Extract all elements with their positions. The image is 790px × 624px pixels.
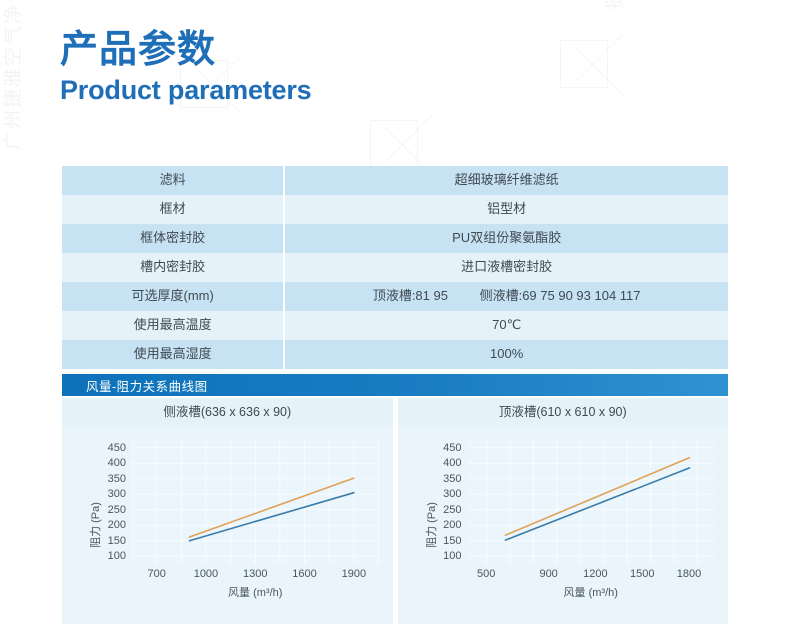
table-cell-value: 100%	[284, 340, 728, 369]
plot-area	[468, 440, 715, 564]
table-row: 使用最高湿度 100%	[62, 340, 728, 369]
y-tick-label: 400	[443, 457, 461, 469]
x-axis-label: 风量 (m³/h)	[132, 584, 379, 600]
table-row: 框体密封胶 PU双组份聚氨酯胶	[62, 224, 728, 253]
y-tick-label: 300	[443, 488, 461, 500]
table-cell-value: 进口液槽密封胶	[284, 253, 728, 282]
watermark-mark	[370, 120, 418, 168]
y-tick-label: 100	[108, 550, 126, 562]
x-tick-label: 1300	[243, 568, 267, 580]
y-tick-label: 150	[443, 535, 461, 547]
plot-lines	[468, 440, 715, 564]
y-tick-label: 400	[108, 457, 126, 469]
thickness-side: 侧液槽:69 75 90 93 104 117	[480, 288, 641, 303]
x-tick-label: 700	[147, 568, 165, 580]
x-tick-label: 1000	[194, 568, 218, 580]
page-title-cn: 产品参数	[60, 28, 312, 72]
x-tick-label: 1800	[677, 568, 701, 580]
thickness-top: 顶液槽:81 95	[373, 288, 448, 303]
plot-area	[132, 440, 379, 564]
table-cell-label: 框体密封胶	[62, 224, 284, 253]
table-cell-value: 70℃	[284, 311, 728, 340]
y-tick-label: 450	[443, 442, 461, 454]
product-parameters-table: 滤料 超细玻璃纤维滤纸 框材 铝型材 框体密封胶 PU双组份聚氨酯胶 槽内密封胶…	[62, 166, 728, 369]
x-tick-label: 1600	[292, 568, 316, 580]
table-cell-label: 可选厚度(mm)	[62, 282, 284, 311]
watermark-text: 捷雅空气净化技术有限公司	[600, 0, 627, 10]
table-row: 使用最高温度 70℃	[62, 311, 728, 340]
x-tick-label: 1500	[630, 568, 654, 580]
y-tick-label: 300	[108, 488, 126, 500]
x-tick-label: 1900	[342, 568, 366, 580]
y-axis-ticks: 100150200250300350400450	[92, 440, 126, 564]
table-cell-value: 超细玻璃纤维滤纸	[284, 166, 728, 195]
airflow-resistance-section: 风量-阻力关系曲线图 侧液槽(636 x 636 x 90) 顶液槽(610 x…	[62, 374, 728, 624]
chart-right: 阻力 (Pa) 100150200250300350400450 5009001…	[398, 426, 729, 624]
y-tick-label: 200	[443, 519, 461, 531]
table-cell-label: 槽内密封胶	[62, 253, 284, 282]
y-tick-label: 200	[108, 519, 126, 531]
table-cell-value: PU双组份聚氨酯胶	[284, 224, 728, 253]
table-cell-label: 使用最高湿度	[62, 340, 284, 369]
section-header-title: 风量-阻力关系曲线图	[62, 376, 208, 395]
chart-left: 阻力 (Pa) 100150200250300350400450 7001000…	[62, 426, 393, 624]
charts-row: 阻力 (Pa) 100150200250300350400450 7001000…	[62, 426, 728, 624]
y-tick-label: 250	[443, 504, 461, 516]
x-axis-ticks: 500900120015001800	[468, 568, 715, 584]
plot-wrapper-right: 阻力 (Pa) 100150200250300350400450 5009001…	[398, 426, 729, 624]
chart-titles-row: 侧液槽(636 x 636 x 90) 顶液槽(610 x 610 x 90)	[62, 398, 728, 426]
watermark-text: 广州捷雅空气净化技术有限公司	[0, 0, 25, 150]
chart-title-right: 顶液槽(610 x 610 x 90)	[398, 398, 729, 426]
table-row: 滤料 超细玻璃纤维滤纸	[62, 166, 728, 195]
y-tick-label: 350	[443, 473, 461, 485]
y-axis-ticks: 100150200250300350400450	[428, 440, 462, 564]
section-header-bar: 风量-阻力关系曲线图	[62, 374, 728, 396]
thickness-values: 顶液槽:81 95 侧液槽:69 75 90 93 104 117	[359, 288, 655, 305]
y-tick-label: 150	[108, 535, 126, 547]
table-row: 可选厚度(mm) 顶液槽:81 95 侧液槽:69 75 90 93 104 1…	[62, 282, 728, 311]
y-tick-label: 350	[108, 473, 126, 485]
y-tick-label: 450	[108, 442, 126, 454]
table-cell-value: 顶液槽:81 95 侧液槽:69 75 90 93 104 117	[284, 282, 728, 311]
page-title: 产品参数 Product parameters	[60, 28, 312, 106]
x-tick-label: 500	[477, 568, 495, 580]
table-row: 槽内密封胶 进口液槽密封胶	[62, 253, 728, 282]
x-axis-ticks: 7001000130016001900	[132, 568, 379, 584]
table-cell-value: 铝型材	[284, 195, 728, 224]
watermark-mark	[560, 40, 608, 88]
table-row: 框材 铝型材	[62, 195, 728, 224]
y-tick-label: 250	[108, 504, 126, 516]
x-tick-label: 1200	[583, 568, 607, 580]
table-body: 滤料 超细玻璃纤维滤纸 框材 铝型材 框体密封胶 PU双组份聚氨酯胶 槽内密封胶…	[62, 166, 728, 369]
x-tick-label: 900	[539, 568, 557, 580]
chart-title-left: 侧液槽(636 x 636 x 90)	[62, 398, 393, 426]
x-axis-label: 风量 (m³/h)	[468, 584, 715, 600]
plot-wrapper-left: 阻力 (Pa) 100150200250300350400450 7001000…	[62, 426, 393, 624]
plot-lines	[132, 440, 379, 564]
table-cell-label: 滤料	[62, 166, 284, 195]
table-cell-label: 使用最高温度	[62, 311, 284, 340]
table-cell-label: 框材	[62, 195, 284, 224]
page-title-en: Product parameters	[60, 74, 312, 106]
y-tick-label: 100	[443, 550, 461, 562]
